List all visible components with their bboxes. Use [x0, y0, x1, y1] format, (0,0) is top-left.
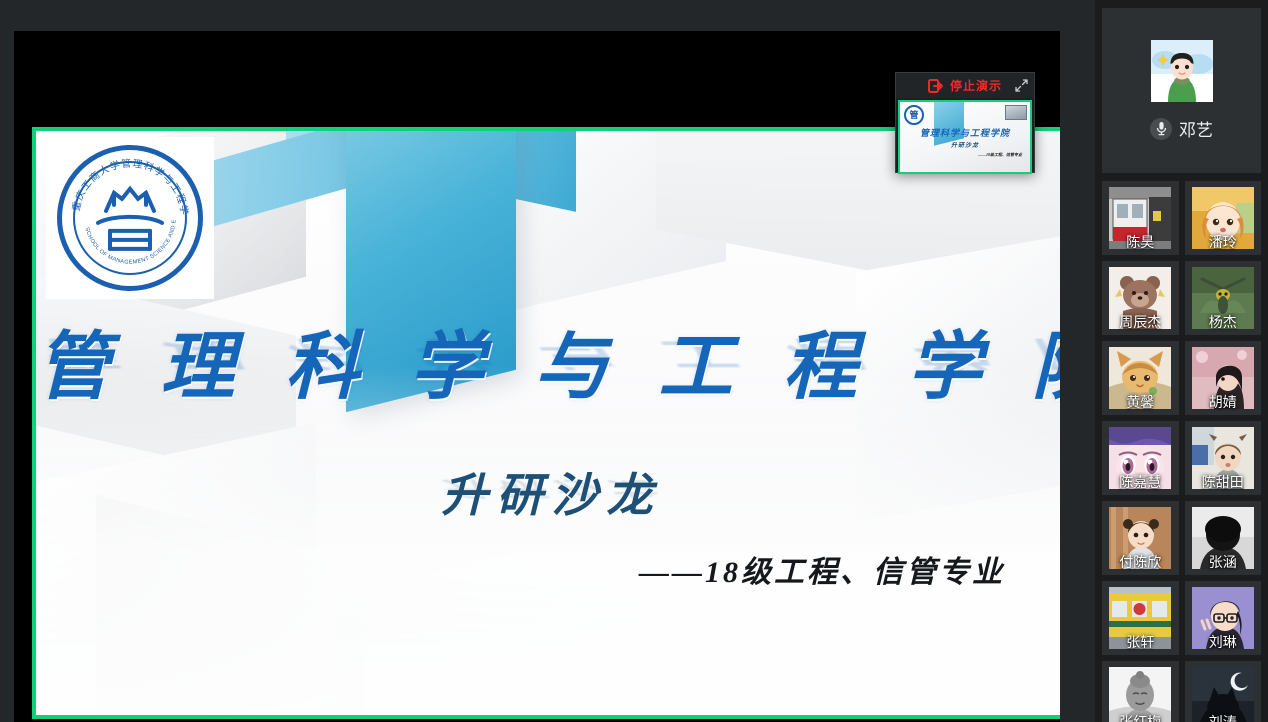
active-speaker-avatar-icon [1151, 40, 1213, 102]
participant-tile[interactable]: 周辰杰 [1102, 261, 1179, 335]
school-logo: 重庆工商大学管理科学与工程学院 SCHOOL OF MANAGEMENT SCI… [46, 137, 214, 299]
participant-name: 黄馨 [1102, 392, 1179, 412]
participant-name: 杨杰 [1185, 312, 1262, 332]
share-control-bar[interactable]: 停止演示 [896, 73, 1034, 98]
preview-slide-credit: ——18级工程、信管专业 [978, 152, 1022, 158]
preview-school-logo-icon [904, 105, 924, 125]
svg-text:重庆工商大学管理科学与工程学院: 重庆工商大学管理科学与工程学院 [62, 150, 191, 217]
emblem-glyph-icon [88, 185, 172, 257]
preview-inner-thumbnail [1005, 105, 1027, 120]
participant-tile[interactable]: 张轩 [1102, 581, 1179, 655]
slide-title: 管 理 科 学 与 工 程 学 院 [36, 307, 1060, 414]
participant-name: 付陈欣 [1102, 552, 1179, 572]
participant-tile[interactable]: 刘涛 [1185, 661, 1262, 722]
participant-name: 刘涛 [1185, 712, 1262, 722]
expand-icon[interactable] [1015, 79, 1028, 92]
preview-slide-title: 管理科学与工程学院 [900, 126, 1030, 139]
participant-tile[interactable]: 黄馨 [1102, 341, 1179, 415]
participant-name: 周辰杰 [1102, 312, 1179, 332]
microphone-icon[interactable] [1150, 118, 1172, 140]
preview-slide-subtitle: 升研沙龙 [900, 140, 1030, 149]
participant-tile[interactable]: 胡婧 [1185, 341, 1262, 415]
participants-sidebar[interactable]: 邓艺 陈昊 [1095, 0, 1268, 722]
participant-name: 胡婧 [1185, 392, 1262, 412]
participant-tile[interactable]: 陈嘉慧 [1102, 421, 1179, 495]
presentation-stage: 重庆工商大学管理科学与工程学院 SCHOOL OF MANAGEMENT SCI… [0, 0, 1095, 722]
presentation-slide[interactable]: 重庆工商大学管理科学与工程学院 SCHOOL OF MANAGEMENT SCI… [36, 131, 1060, 715]
participant-tile[interactable]: 杨杰 [1185, 261, 1262, 335]
participant-tile[interactable]: 陈甜田 [1185, 421, 1262, 495]
participant-tile[interactable]: 张涵 [1185, 501, 1262, 575]
participants-grid: 陈昊 潘玲 [1102, 181, 1261, 722]
participant-name: 刘琳 [1185, 632, 1262, 652]
participant-name: 陈嘉慧 [1102, 472, 1179, 492]
active-speaker-name-row: 邓艺 [1150, 116, 1213, 141]
participant-tile[interactable]: 陈昊 [1102, 181, 1179, 255]
emblem-arc-text-cn: 重庆工商大学管理科学与工程学院 SCHOOL OF MANAGEMENT SCI… [62, 150, 198, 286]
slide-subtitle: 升研沙龙 [36, 459, 1060, 525]
screen-share-highlight-border: 重庆工商大学管理科学与工程学院 SCHOOL OF MANAGEMENT SCI… [32, 127, 1060, 719]
school-emblem-icon: 重庆工商大学管理科学与工程学院 SCHOOL OF MANAGEMENT SCI… [57, 145, 203, 291]
shared-screen-frame[interactable]: 重庆工商大学管理科学与工程学院 SCHOOL OF MANAGEMENT SCI… [14, 31, 1060, 722]
slide-credit-line: ——18级工程、信管专业 [639, 547, 1005, 591]
stop-share-icon[interactable] [928, 79, 944, 93]
participant-name: 陈昊 [1102, 232, 1179, 252]
stop-share-label[interactable]: 停止演示 [950, 77, 1002, 94]
participant-name: 张红梅 [1102, 712, 1179, 722]
avatar [1151, 40, 1213, 102]
participant-tile[interactable]: 付陈欣 [1102, 501, 1179, 575]
participant-name: 潘玲 [1185, 232, 1262, 252]
participant-name: 张涵 [1185, 552, 1262, 572]
participant-tile[interactable]: 潘玲 [1185, 181, 1262, 255]
participant-name: 张轩 [1102, 632, 1179, 652]
share-preview-thumbnail[interactable]: 管理科学与工程学院 升研沙龙 ——18级工程、信管专业 [898, 100, 1032, 174]
participant-tile[interactable]: 刘琳 [1185, 581, 1262, 655]
share-preview-panel[interactable]: 停止演示 管理科学与工程学院 升研沙龙 ——18级工程、信管专业 [895, 72, 1035, 173]
meeting-window: 重庆工商大学管理科学与工程学院 SCHOOL OF MANAGEMENT SCI… [0, 0, 1268, 722]
active-speaker-tile[interactable]: 邓艺 [1102, 8, 1261, 173]
active-speaker-name: 邓艺 [1179, 116, 1213, 141]
participant-tile[interactable]: 张红梅 [1102, 661, 1179, 722]
participant-name: 陈甜田 [1185, 472, 1262, 492]
